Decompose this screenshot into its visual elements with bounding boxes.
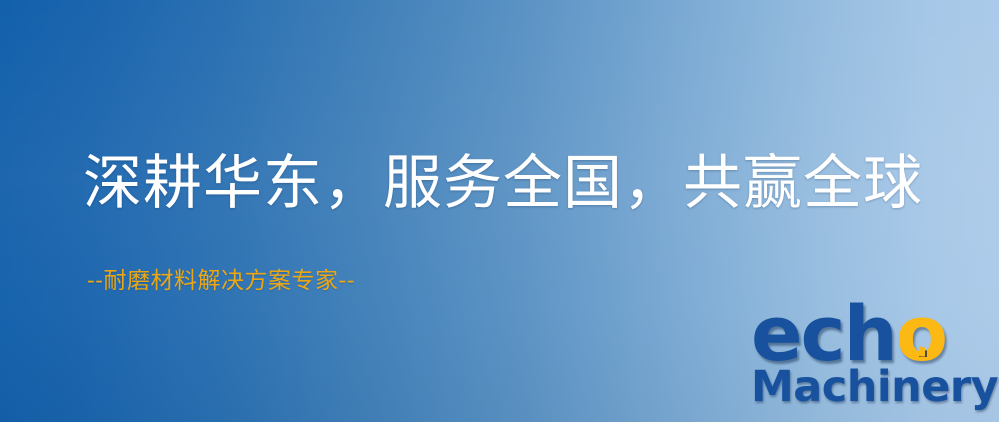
- banner-subtitle: --耐磨材料解决方案专家--: [87, 270, 355, 293]
- logo-wordmark: echo: [751, 296, 946, 372]
- logo-tagline-text: Machinery: [751, 362, 998, 412]
- echo-machinery-logo[interactable]: echo Machinery®: [747, 296, 992, 420]
- promo-banner: 深耕华东，服务全国，共赢全球 --耐磨材料解决方案专家-- echo Machi…: [0, 0, 999, 422]
- banner-headline: 深耕华东，服务全国，共赢全球: [83, 153, 923, 212]
- logo-tagline: Machinery®: [751, 366, 999, 414]
